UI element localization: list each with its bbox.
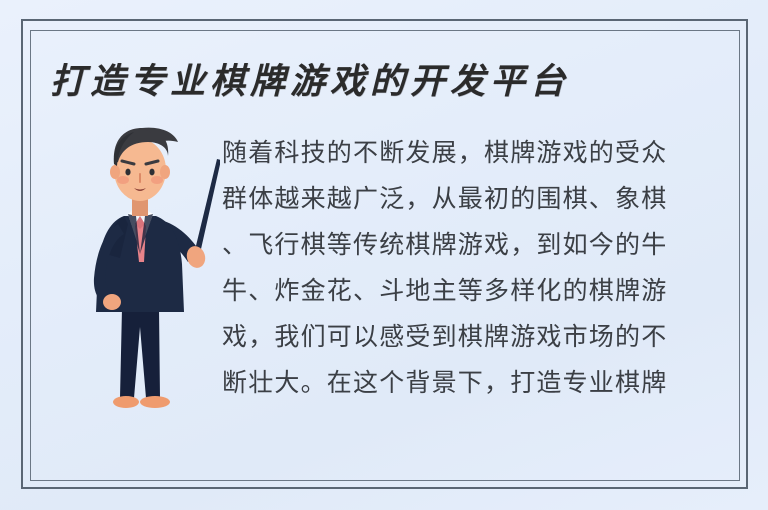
poster-canvas: 打造专业棋牌游戏的开发平台	[0, 0, 768, 510]
left-cheek	[117, 176, 129, 184]
article-line: 牛、炸金花、斗地主等多样化的棋牌游	[222, 268, 730, 314]
right-shoe	[140, 396, 170, 408]
right-ear	[160, 165, 170, 179]
left-eye	[125, 169, 130, 176]
pointer-stick	[194, 159, 220, 258]
article-line: 断壮大。在这个背景下，打造专业棋牌	[222, 360, 730, 406]
businessman-illustration	[60, 112, 220, 412]
article-body: 随着科技的不断发展，棋牌游戏的受众 群体越来越广泛，从最初的围棋、象棋 、飞行棋…	[222, 130, 730, 406]
article-line: 、飞行棋等传统棋牌游戏，到如今的牛	[222, 222, 730, 268]
right-eye	[149, 169, 154, 176]
page-title: 打造专业棋牌游戏的开发平台	[50, 56, 650, 108]
article-line: 戏，我们可以感受到棋牌游戏市场的不	[222, 314, 730, 360]
left-ear	[110, 165, 120, 179]
left-hand	[103, 294, 121, 310]
trousers-shape	[120, 308, 160, 398]
right-cheek	[151, 176, 163, 184]
left-shoe	[113, 396, 139, 408]
article-line: 随着科技的不断发展，棋牌游戏的受众	[222, 130, 730, 176]
article-line: 群体越来越广泛，从最初的围棋、象棋	[222, 176, 730, 222]
